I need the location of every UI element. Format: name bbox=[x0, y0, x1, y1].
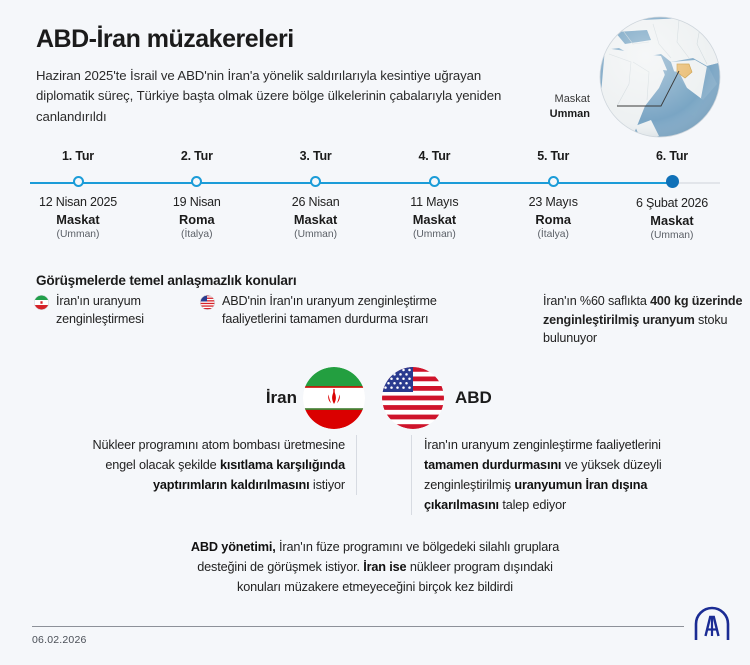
timeline-city: Maskat bbox=[612, 213, 732, 228]
timeline-country: (İtalya) bbox=[137, 229, 257, 240]
timeline-city: Maskat bbox=[256, 212, 376, 227]
timeline-city: Maskat bbox=[18, 212, 138, 227]
uranium-stockpile-note: İran'ın %60 saflıkta 400 kg üzerinde zen… bbox=[543, 292, 743, 348]
timeline-country: (İtalya) bbox=[493, 229, 613, 240]
timeline-country: (Umman) bbox=[18, 229, 138, 240]
timeline-dot[interactable] bbox=[429, 176, 440, 187]
timeline-dot[interactable] bbox=[666, 175, 679, 188]
timeline-city: Maskat bbox=[374, 212, 494, 227]
globe-city-label: Maskat bbox=[555, 93, 590, 105]
disagreement-text: ABD'nin İran'ın uranyum zenginleştirme f… bbox=[222, 293, 500, 329]
timeline-date: 23 Mayıs bbox=[493, 195, 613, 209]
globe-callout: Maskat Umman bbox=[520, 92, 590, 122]
iran-position-text: Nükleer programını atom bombası üretmesi… bbox=[72, 435, 357, 495]
abd-position-text: İran'ın uranyum zenginleştirme faaliyetl… bbox=[411, 435, 691, 515]
timeline-node[interactable]: 3. Tur26 NisanMaskat(Umman) bbox=[256, 150, 376, 240]
timeline-dot[interactable] bbox=[73, 176, 84, 187]
disagreement-item: İran'ın uranyum zenginleştirmesi bbox=[34, 293, 194, 329]
timeline-dot[interactable] bbox=[191, 176, 202, 187]
timeline-round-label: 1. Tur bbox=[18, 150, 138, 163]
negotiation-timeline: 1. Tur12 Nisan 2025Maskat(Umman)2. Tur19… bbox=[30, 150, 720, 245]
additional-issues-note: ABD yönetimi, İran'ın füze programını ve… bbox=[185, 538, 565, 597]
timeline-round-label: 2. Tur bbox=[137, 150, 257, 163]
timeline-round-label: 5. Tur bbox=[493, 150, 613, 163]
timeline-dot[interactable] bbox=[310, 176, 321, 187]
abd-label: ABD bbox=[455, 388, 492, 408]
timeline-date: 19 Nisan bbox=[137, 195, 257, 209]
disagreement-text: İran'ın uranyum zenginleştirmesi bbox=[56, 293, 194, 329]
header: ABD-İran müzakereleri Haziran 2025'te İs… bbox=[36, 26, 506, 128]
iran-flag-large-icon bbox=[303, 367, 365, 429]
timeline-country: (Umman) bbox=[256, 229, 376, 240]
iran-label: İran bbox=[255, 388, 297, 408]
timeline-country: (Umman) bbox=[612, 230, 732, 241]
timeline-country: (Umman) bbox=[374, 229, 494, 240]
page-subtitle: Haziran 2025'te İsrail ve ABD'nin İran'a… bbox=[36, 66, 506, 129]
timeline-date: 6 Şubat 2026 bbox=[612, 196, 732, 210]
timeline-round-label: 4. Tur bbox=[374, 150, 494, 163]
footer-divider bbox=[32, 626, 684, 627]
globe-country-label: Umman bbox=[550, 108, 590, 120]
timeline-node[interactable]: 4. Tur11 MayısMaskat(Umman) bbox=[374, 150, 494, 240]
timeline-node[interactable]: 1. Tur12 Nisan 2025Maskat(Umman) bbox=[18, 150, 138, 240]
timeline-date: 11 Mayıs bbox=[374, 195, 494, 209]
footer-date: 06.02.2026 bbox=[32, 634, 87, 646]
timeline-round-label: 3. Tur bbox=[256, 150, 376, 163]
timeline-node[interactable]: 6. Tur6 Şubat 2026Maskat(Umman) bbox=[612, 150, 732, 241]
anadolu-agency-logo bbox=[692, 606, 732, 642]
disagreement-item: ABD'nin İran'ın uranyum zenginleştirme f… bbox=[200, 293, 500, 329]
page-title: ABD-İran müzakereleri bbox=[36, 26, 506, 54]
timeline-round-label: 6. Tur bbox=[612, 150, 732, 163]
iran-flag-icon bbox=[34, 295, 49, 310]
timeline-dot[interactable] bbox=[548, 176, 559, 187]
usa-flag-large-icon bbox=[382, 367, 444, 429]
timeline-date: 26 Nisan bbox=[256, 195, 376, 209]
globe-illustration bbox=[575, 14, 735, 144]
timeline-node[interactable]: 5. Tur23 MayısRoma(İtalya) bbox=[493, 150, 613, 240]
timeline-date: 12 Nisan 2025 bbox=[18, 195, 138, 209]
timeline-node[interactable]: 2. Tur19 NisanRoma(İtalya) bbox=[137, 150, 257, 240]
usa-flag-icon bbox=[200, 295, 215, 310]
timeline-city: Roma bbox=[137, 212, 257, 227]
disagreements-heading: Görüşmelerde temel anlaşmazlık konuları bbox=[36, 273, 296, 288]
timeline-city: Roma bbox=[493, 212, 613, 227]
